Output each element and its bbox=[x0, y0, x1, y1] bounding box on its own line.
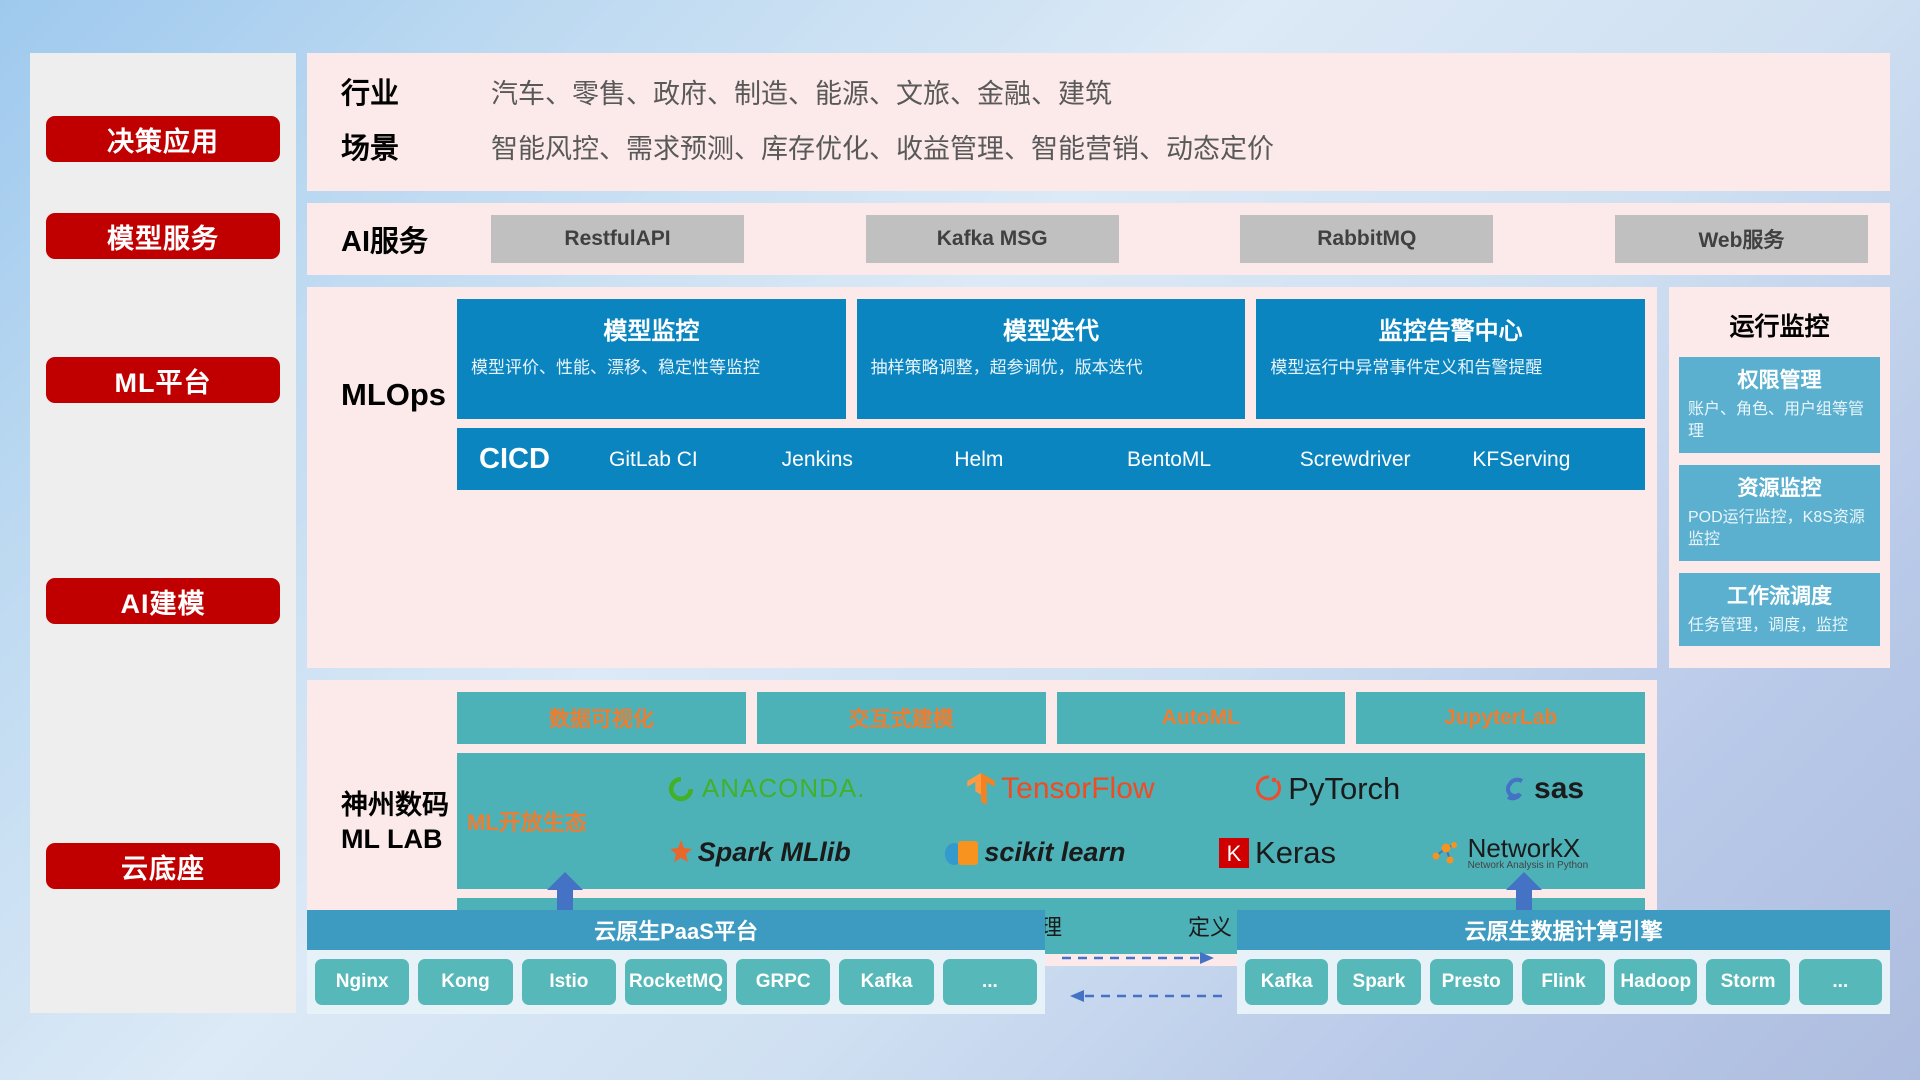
sidebar-item-label: 决策应用 bbox=[107, 120, 219, 159]
card-title: 模型迭代 bbox=[871, 311, 1232, 346]
card-title: 权限管理 bbox=[1688, 364, 1871, 394]
chip-hadoop[interactable]: Hadoop bbox=[1614, 959, 1697, 1005]
cloud-native-paas-block: 云原生PaaS平台 Nginx Kong Istio RocketMQ GRPC… bbox=[307, 910, 1045, 1014]
spark-mllib-logo: Spark MLlib bbox=[662, 837, 851, 868]
chip-grpc[interactable]: GRPC bbox=[736, 959, 830, 1005]
mlops-card-model-monitoring[interactable]: 模型监控 模型评价、性能、漂移、稳定性等监控 bbox=[457, 299, 846, 419]
card-title: 工作流调度 bbox=[1688, 580, 1871, 610]
logo-label: PyTorch bbox=[1288, 771, 1400, 807]
chip-presto[interactable]: Presto bbox=[1430, 959, 1513, 1005]
paas-header: 云原生PaaS平台 bbox=[307, 910, 1045, 950]
tab-jupyterlab[interactable]: JupyterLab bbox=[1356, 692, 1645, 744]
industry-scenario-list: 行业 汽车、零售、政府、制造、能源、文旅、金融、建筑 场景 智能风控、需求预测、… bbox=[341, 67, 1274, 177]
monitor-card-workflow[interactable]: 工作流调度 任务管理，调度，监控 bbox=[1679, 573, 1880, 646]
run-monitor-title: 运行监控 bbox=[1679, 307, 1880, 343]
scenario-value: 智能风控、需求预测、库存优化、收益管理、智能营销、动态定价 bbox=[491, 124, 1274, 175]
bidirectional-dashed-link-icon bbox=[1062, 948, 1222, 1008]
scikit-learn-logo: scikit learn bbox=[944, 837, 1125, 868]
sidebar-item-model-service[interactable]: 模型服务 bbox=[46, 213, 280, 259]
pytorch-icon bbox=[1256, 774, 1282, 804]
sidebar-item-label: ML平台 bbox=[115, 361, 212, 400]
ecosystem-logo-grid: ANACONDA. TensorFlow bbox=[615, 759, 1635, 883]
logo-label: sas bbox=[1534, 772, 1584, 806]
chip-rocketmq[interactable]: RocketMQ bbox=[625, 959, 727, 1005]
ml-lab-label-line2: ML LAB bbox=[341, 823, 449, 857]
ml-open-ecosystem-row: ML开放生态 ANACONDA. bbox=[457, 753, 1645, 889]
logo-label: TensorFlow bbox=[1001, 772, 1154, 806]
service-chip-label: Kafka MSG bbox=[937, 227, 1048, 251]
sidebar-item-ai-modeling[interactable]: AI建模 bbox=[46, 578, 280, 624]
networkx-subtitle: Network Analysis in Python bbox=[1468, 861, 1589, 871]
service-chip-label: RestfulAPI bbox=[564, 227, 670, 251]
card-desc: 抽样策略调整，超参调优，版本迭代 bbox=[871, 356, 1232, 381]
ml-lab-tab-list: 数据可视化 交互式建模 AutoML JupyterLab bbox=[457, 692, 1645, 744]
cicd-item-helm[interactable]: Helm bbox=[954, 449, 1127, 470]
mlops-card-alert-center[interactable]: 监控告警中心 模型运行中异常事件定义和告警提醒 bbox=[1256, 299, 1645, 419]
chip-kafka[interactable]: Kafka bbox=[839, 959, 933, 1005]
chip-more[interactable]: ... bbox=[943, 959, 1037, 1005]
cloud-base-row: 云原生PaaS平台 Nginx Kong Istio RocketMQ GRPC… bbox=[307, 890, 1890, 1050]
card-title: 模型监控 bbox=[471, 311, 832, 346]
chip-kong[interactable]: Kong bbox=[418, 959, 512, 1005]
service-chip-rabbitmq[interactable]: RabbitMQ bbox=[1240, 215, 1493, 263]
ml-lab-label-line1: 神州数码 bbox=[341, 789, 449, 823]
sidebar-item-label: 云底座 bbox=[121, 847, 205, 886]
service-chip-kafka-msg[interactable]: Kafka MSG bbox=[866, 215, 1119, 263]
logo-label: ANACONDA. bbox=[702, 773, 866, 804]
mlops-row: MLOps 模型监控 模型评价、性能、漂移、稳定性等监控 模型迭代 抽样策略调整… bbox=[307, 287, 1890, 668]
anaconda-logo: ANACONDA. bbox=[666, 773, 866, 804]
ai-service-label: AI服务 bbox=[341, 218, 491, 260]
run-monitor-panel: 运行监控 权限管理 账户、角色、用户组等管理 资源监控 POD运行监控，K8S资… bbox=[1669, 287, 1890, 668]
logo-label: Spark MLlib bbox=[698, 837, 851, 868]
chip-more[interactable]: ... bbox=[1799, 959, 1882, 1005]
service-chip-label: Web服务 bbox=[1698, 224, 1784, 254]
scenario-label: 场景 bbox=[341, 122, 491, 177]
card-title: 资源监控 bbox=[1688, 472, 1871, 502]
sidebar-item-label: AI建模 bbox=[121, 582, 206, 621]
keras-logo: K Keras bbox=[1219, 835, 1336, 871]
mlops-label: MLOps bbox=[307, 299, 457, 490]
service-chip-restfulapi[interactable]: RestfulAPI bbox=[491, 215, 744, 263]
sas-icon bbox=[1502, 775, 1528, 803]
cicd-item-bentoml[interactable]: BentoML bbox=[1127, 449, 1300, 470]
ai-service-band: AI服务 RestfulAPI Kafka MSG RabbitMQ Web服务 bbox=[307, 203, 1890, 275]
keras-icon: K bbox=[1219, 838, 1249, 868]
sidebar-item-ml-platform[interactable]: ML平台 bbox=[46, 357, 280, 403]
tab-data-visualization[interactable]: 数据可视化 bbox=[457, 692, 746, 744]
industry-line: 行业 汽车、零售、政府、制造、能源、文旅、金融、建筑 bbox=[341, 67, 1274, 122]
layer-sidebar: 决策应用 模型服务 ML平台 AI建模 云底座 bbox=[30, 53, 296, 1013]
cicd-item-screwdriver[interactable]: Screwdriver bbox=[1300, 449, 1473, 470]
engine-header: 云原生数据计算引擎 bbox=[1237, 910, 1890, 950]
chip-istio[interactable]: Istio bbox=[522, 959, 616, 1005]
sidebar-item-cloud-base[interactable]: 云底座 bbox=[46, 843, 280, 889]
mlops-card-list: 模型监控 模型评价、性能、漂移、稳定性等监控 模型迭代 抽样策略调整，超参调优，… bbox=[457, 299, 1645, 419]
mlops-card-model-iteration[interactable]: 模型迭代 抽样策略调整，超参调优，版本迭代 bbox=[857, 299, 1246, 419]
scikit-learn-icon bbox=[944, 838, 978, 868]
logo-label: scikit learn bbox=[984, 837, 1125, 868]
anaconda-icon bbox=[666, 774, 696, 804]
logo-label: Keras bbox=[1255, 835, 1336, 871]
mlops-band: MLOps 模型监控 模型评价、性能、漂移、稳定性等监控 模型迭代 抽样策略调整… bbox=[307, 287, 1657, 668]
sas-logo: sas bbox=[1502, 772, 1584, 806]
paas-chip-list: Nginx Kong Istio RocketMQ GRPC Kafka ... bbox=[307, 950, 1045, 1014]
tensorflow-logo: TensorFlow bbox=[967, 772, 1154, 806]
service-chip-web[interactable]: Web服务 bbox=[1615, 215, 1868, 263]
main-column: 行业 汽车、零售、政府、制造、能源、文旅、金融、建筑 场景 智能风控、需求预测、… bbox=[307, 53, 1890, 966]
sidebar-item-label: 模型服务 bbox=[107, 217, 219, 256]
service-chip-label: RabbitMQ bbox=[1317, 227, 1416, 251]
scenario-line: 场景 智能风控、需求预测、库存优化、收益管理、智能营销、动态定价 bbox=[341, 122, 1274, 177]
pytorch-logo: PyTorch bbox=[1256, 771, 1400, 807]
industry-label: 行业 bbox=[341, 67, 491, 122]
cicd-bar: CICD GitLab CI Jenkins Helm BentoML Scre… bbox=[457, 428, 1645, 490]
ai-service-list: RestfulAPI Kafka MSG RabbitMQ Web服务 bbox=[491, 215, 1868, 263]
monitor-card-permission[interactable]: 权限管理 账户、角色、用户组等管理 bbox=[1679, 357, 1880, 453]
spark-star-icon bbox=[662, 839, 692, 867]
chip-kafka[interactable]: Kafka bbox=[1245, 959, 1328, 1005]
decision-application-band: 行业 汽车、零售、政府、制造、能源、文旅、金融、建筑 场景 智能风控、需求预测、… bbox=[307, 53, 1890, 191]
tab-automl[interactable]: AutoML bbox=[1057, 692, 1346, 744]
cicd-item-kfserving[interactable]: KFServing bbox=[1472, 449, 1645, 470]
logo-line-1: ANACONDA. TensorFlow bbox=[615, 759, 1635, 819]
ml-open-ecosystem-label: ML开放生态 bbox=[467, 805, 615, 837]
cicd-item-gitlab-ci[interactable]: GitLab CI bbox=[609, 449, 782, 470]
networkx-wordmark: NetworkX Network Analysis in Python bbox=[1468, 835, 1589, 871]
industry-value: 汽车、零售、政府、制造、能源、文旅、金融、建筑 bbox=[491, 69, 1112, 120]
card-desc: 模型运行中异常事件定义和告警提醒 bbox=[1270, 356, 1631, 381]
logo-line-2: Spark MLlib scikit learn bbox=[615, 823, 1635, 883]
sidebar-item-decision-app[interactable]: 决策应用 bbox=[46, 116, 280, 162]
card-desc: 任务管理，调度，监控 bbox=[1688, 615, 1871, 637]
cicd-title: CICD bbox=[479, 443, 609, 476]
card-desc: POD运行监控，K8S资源监控 bbox=[1688, 507, 1871, 552]
arrow-up-engine-icon bbox=[1502, 872, 1546, 912]
cicd-item-jenkins[interactable]: Jenkins bbox=[782, 449, 955, 470]
monitor-card-resource[interactable]: 资源监控 POD运行监控，K8S资源监控 bbox=[1679, 465, 1880, 561]
logo-label: NetworkX bbox=[1468, 835, 1589, 861]
engine-chip-list: Kafka Spark Presto Flink Hadoop Storm ..… bbox=[1237, 950, 1890, 1014]
chip-spark[interactable]: Spark bbox=[1337, 959, 1420, 1005]
chip-flink[interactable]: Flink bbox=[1522, 959, 1605, 1005]
svg-text:K: K bbox=[1227, 841, 1242, 866]
networkx-logo: NetworkX Network Analysis in Python bbox=[1430, 835, 1589, 871]
card-desc: 模型评价、性能、漂移、稳定性等监控 bbox=[471, 356, 832, 381]
card-desc: 账户、角色、用户组等管理 bbox=[1688, 399, 1871, 444]
tab-interactive-modeling[interactable]: 交互式建模 bbox=[757, 692, 1046, 744]
networkx-icon bbox=[1430, 838, 1462, 868]
chip-storm[interactable]: Storm bbox=[1706, 959, 1789, 1005]
cloud-native-data-engine-block: 云原生数据计算引擎 Kafka Spark Presto Flink Hadoo… bbox=[1237, 910, 1890, 1014]
cicd-item-list: GitLab CI Jenkins Helm BentoML Screwdriv… bbox=[609, 449, 1645, 470]
chip-nginx[interactable]: Nginx bbox=[315, 959, 409, 1005]
card-title: 监控告警中心 bbox=[1270, 311, 1631, 346]
arrow-up-paas-icon bbox=[543, 872, 587, 912]
tensorflow-icon bbox=[967, 773, 995, 805]
